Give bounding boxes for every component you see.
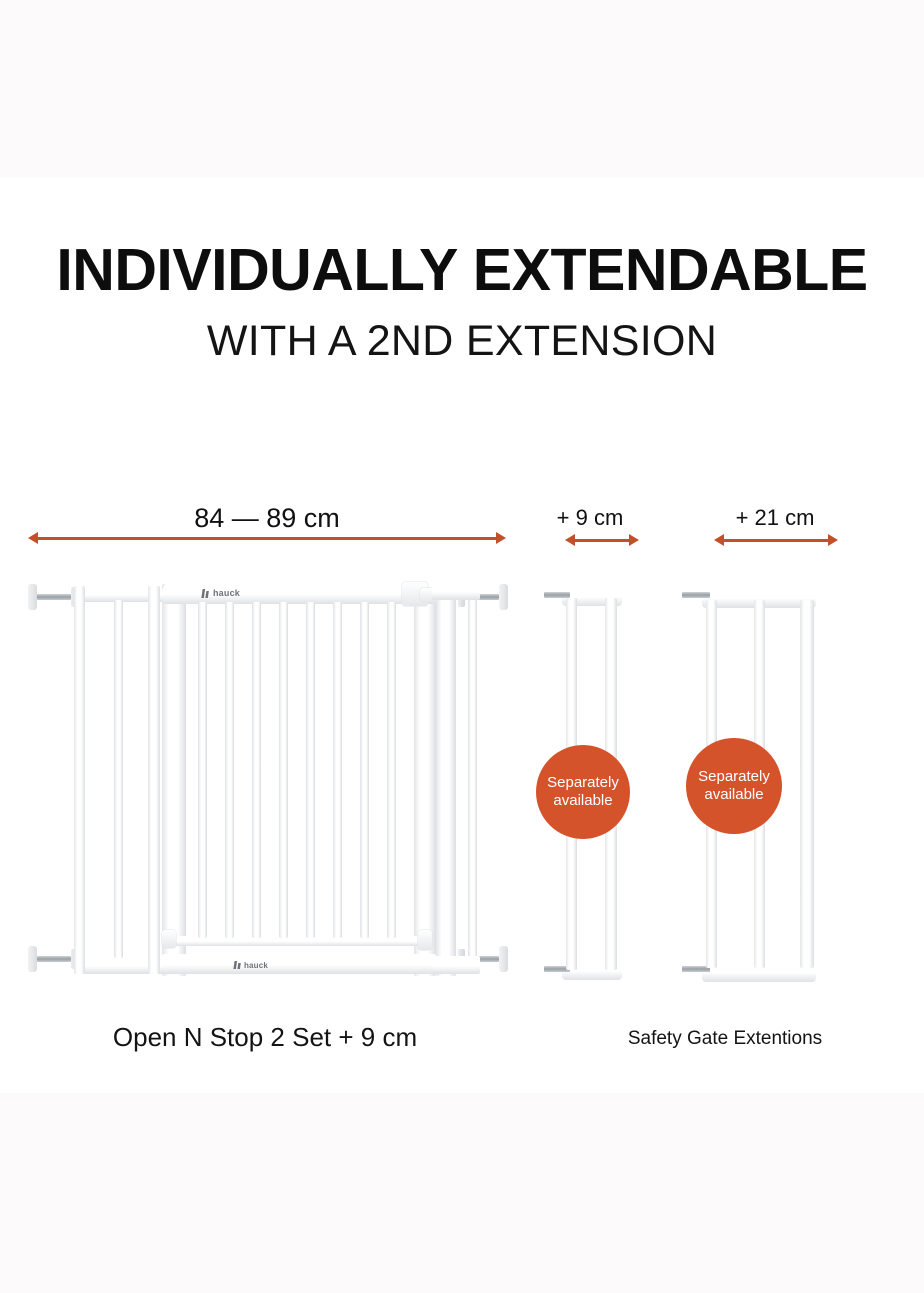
badge-line-2: available	[704, 786, 763, 804]
page-subtitle: WITH A 2ND EXTENSION	[0, 316, 924, 366]
threshold-left-cap	[162, 930, 176, 948]
brand-name: hauck	[244, 961, 268, 970]
gate-right-bar	[468, 598, 477, 960]
gate-bar	[279, 602, 288, 938]
caption-extensions: Safety Gate Extentions	[560, 1028, 890, 1050]
arrow-head-right-icon	[828, 534, 838, 546]
top-background-band	[0, 0, 924, 178]
hauck-mark-icon	[201, 589, 210, 598]
badge-line-2: available	[553, 792, 612, 810]
dimension-label-extension-2: + 21 cm	[705, 505, 845, 531]
product-infographic: INDIVIDUALLY EXTENDABLE WITH A 2ND EXTEN…	[0, 0, 924, 1293]
badge-line-1: Separately	[698, 768, 770, 786]
gate-right-outer-post	[436, 584, 456, 976]
gate-bar	[333, 602, 342, 938]
product-image-main-gate: hauck hauck	[28, 578, 508, 992]
product-image-extension-21cm: Separately available	[688, 578, 834, 998]
caption-main-product: Open N Stop 2 Set + 9 cm	[20, 1022, 510, 1053]
threshold-right-cap	[418, 930, 432, 950]
hauck-mark-icon	[233, 961, 241, 969]
gate-right-bottom-rail	[432, 956, 480, 974]
extension-section-right-post	[148, 586, 160, 974]
dimension-arrow-extension-2	[714, 532, 838, 548]
gate-bar	[225, 602, 234, 938]
gate-bottom-rail	[162, 954, 436, 974]
dimension-label-extension-1: + 9 cm	[530, 505, 650, 531]
brand-logo-bottom: hauck	[206, 958, 296, 972]
extension-section-bar	[114, 600, 123, 958]
badge-separately-available: Separately available	[686, 738, 782, 834]
badge-separately-available: Separately available	[536, 745, 630, 839]
mounting-bolt-bottom-left	[28, 946, 78, 972]
gate-bar	[198, 602, 207, 938]
page-title: INDIVIDUALLY EXTENDABLE	[0, 238, 924, 302]
arrow-shaft	[572, 539, 632, 542]
extension-bar	[800, 600, 814, 968]
gate-bar	[387, 602, 396, 938]
gate-latch-post	[414, 584, 436, 976]
arrow-shaft	[721, 539, 831, 542]
dimension-arrow-main	[28, 530, 506, 546]
extension-section-left-post	[74, 586, 85, 974]
product-image-extension-9cm: Separately available	[548, 578, 644, 998]
arrow-head-right-icon	[629, 534, 639, 546]
mounting-bolt-top-left	[28, 584, 78, 610]
brand-name: hauck	[213, 588, 240, 598]
gate-right-top-rail	[432, 582, 480, 600]
arrow-shaft	[35, 537, 499, 540]
gate-bar	[306, 602, 315, 938]
brand-logo-top: hauck	[176, 584, 266, 602]
bottom-background-band	[0, 1093, 924, 1293]
gate-hinge-post	[162, 584, 186, 976]
gate-bar	[252, 602, 261, 938]
dimension-arrow-extension-1	[565, 532, 639, 548]
gate-bar	[360, 602, 369, 938]
arrow-head-right-icon	[496, 532, 506, 544]
badge-line-1: Separately	[547, 774, 619, 792]
